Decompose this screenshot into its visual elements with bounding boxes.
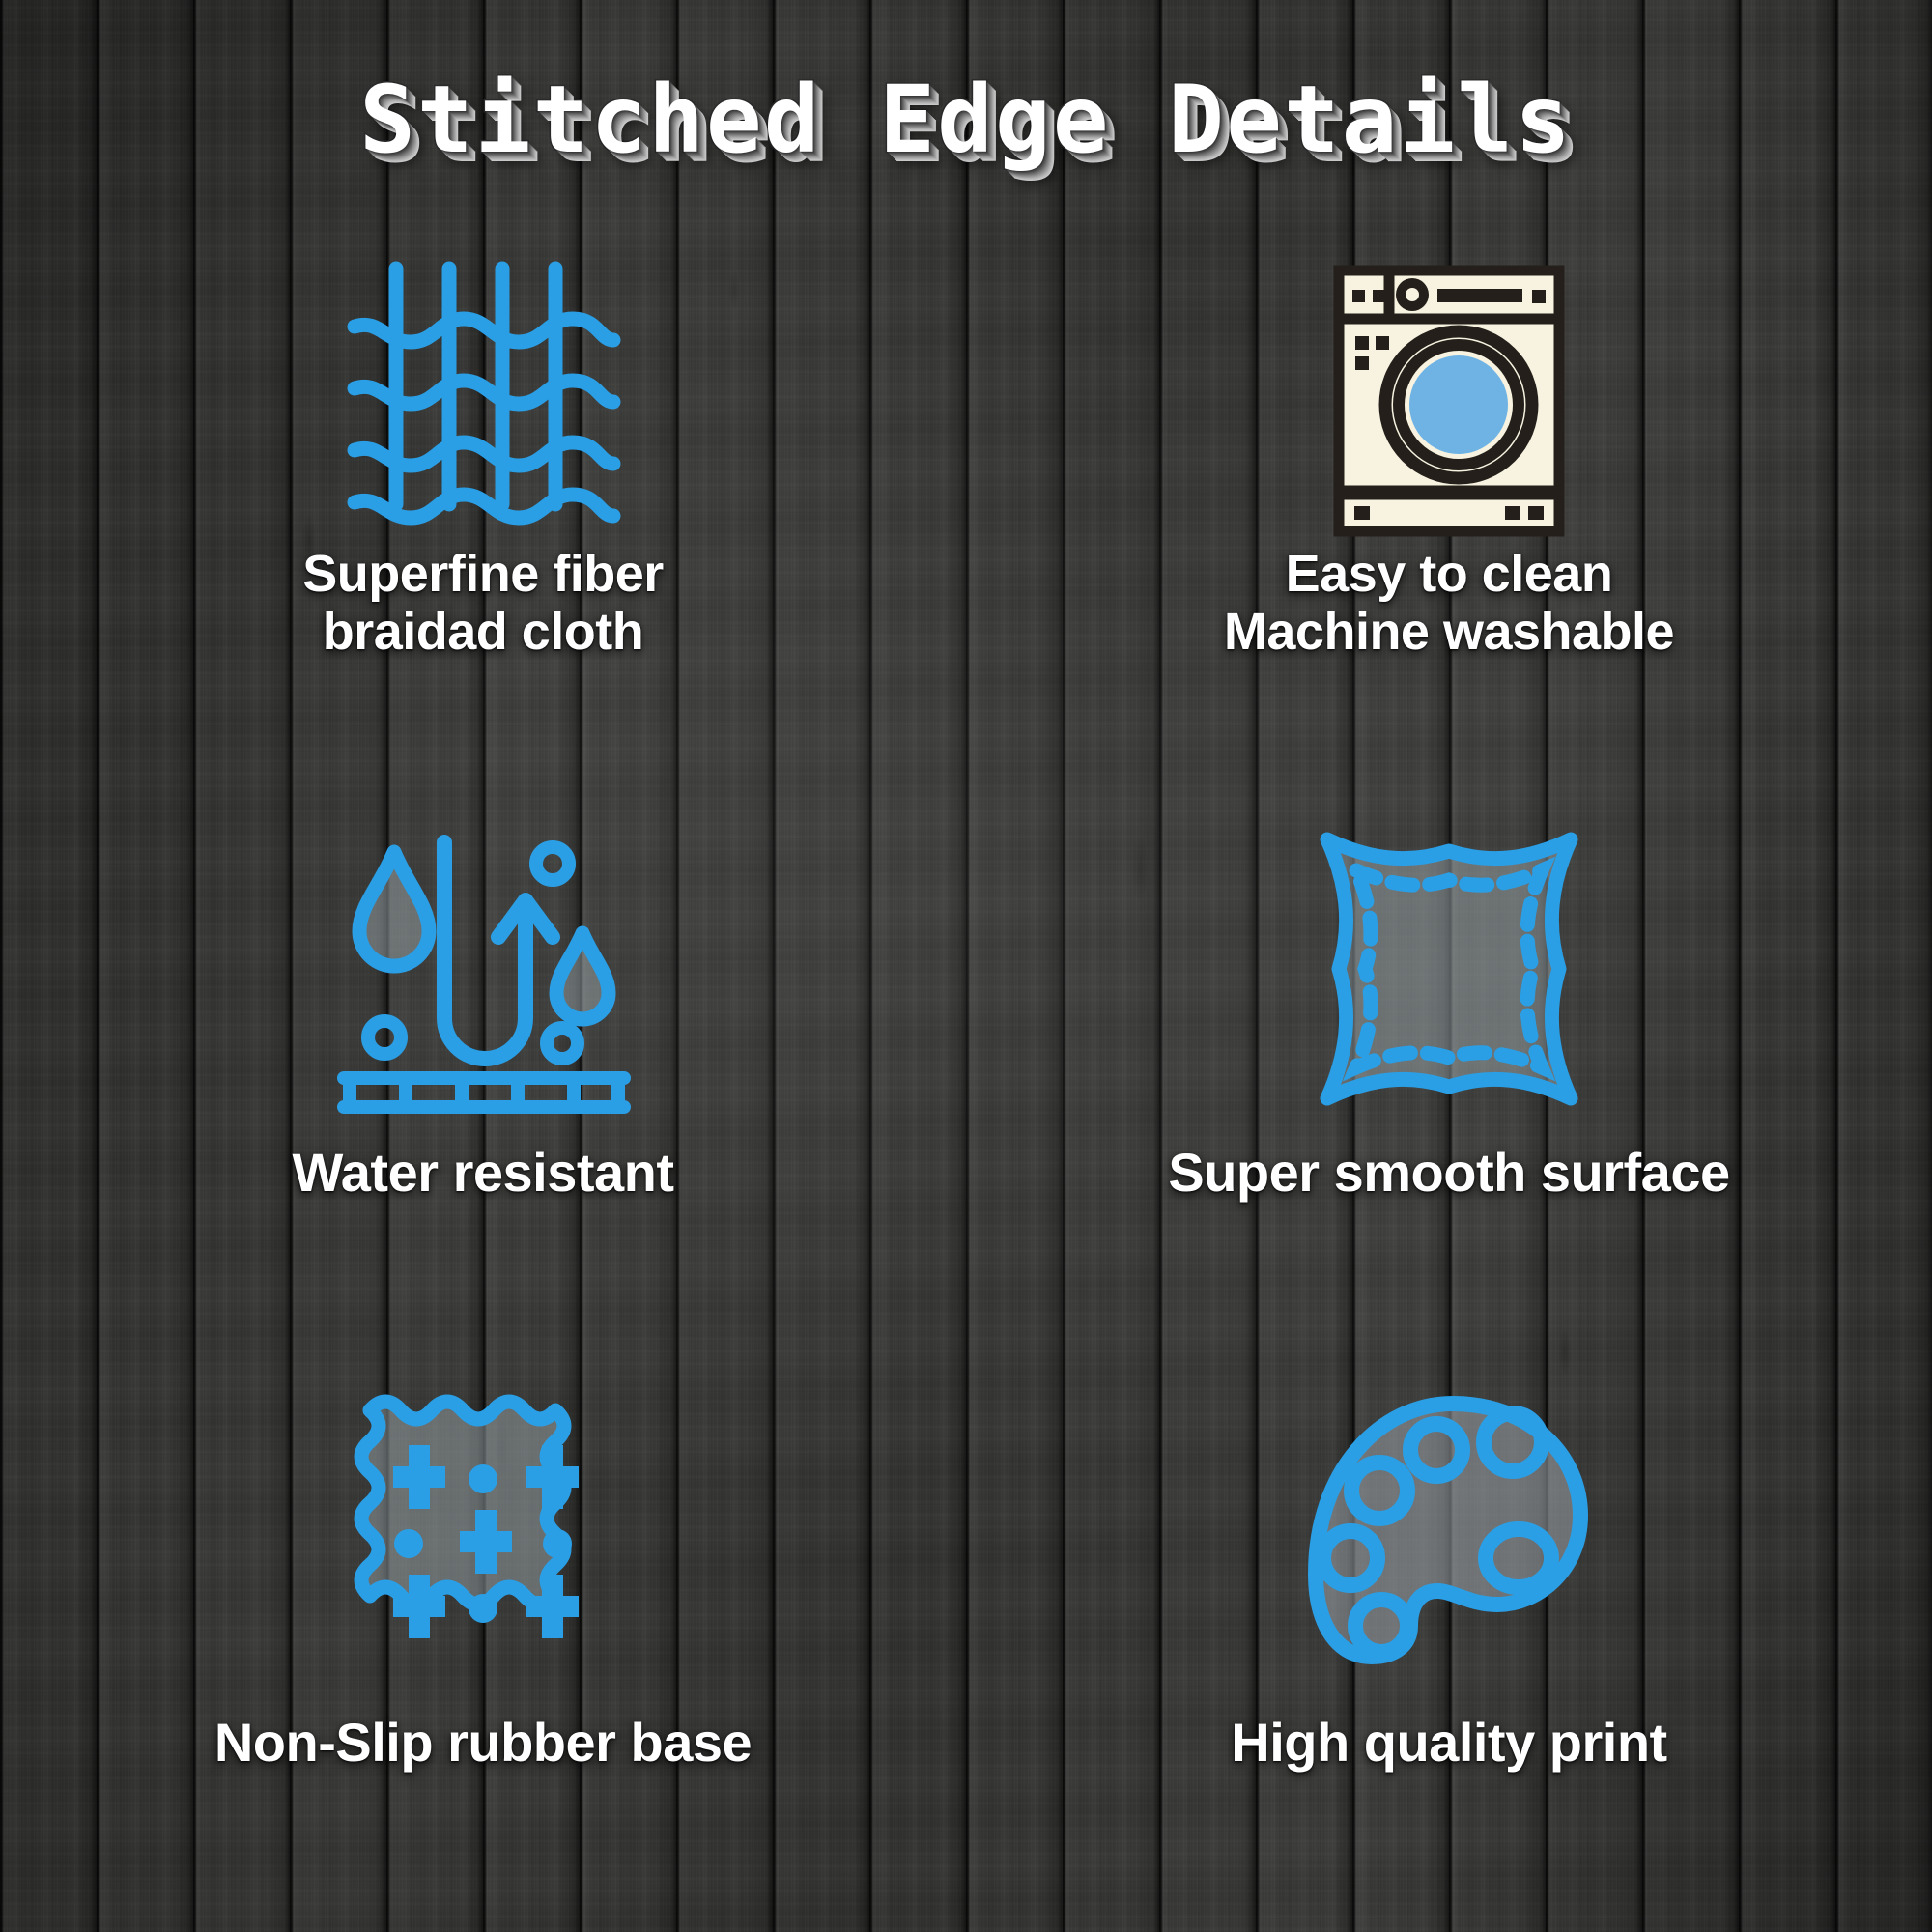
- feature-card-machine-washable: Easy to clean Machine washable: [966, 241, 1932, 802]
- infographic-page: Stitched Edge Details Superfine fi: [0, 0, 1932, 1932]
- feature-card-water-resistant: Water resistant: [0, 802, 966, 1362]
- rubber-mat-icon: [343, 1362, 623, 1695]
- feature-card-smooth-surface: Super smooth surface: [966, 802, 1932, 1362]
- feature-grid: Superfine fiber braidad cloth: [0, 241, 1932, 1922]
- page-title-container: Stitched Edge Details: [0, 71, 1932, 169]
- feature-label: Non-Slip rubber base: [214, 1713, 752, 1774]
- feature-card-high-quality-print: High quality print: [966, 1362, 1932, 1922]
- water-repellent-icon: [338, 802, 628, 1135]
- page-title: Stitched Edge Details: [359, 71, 1573, 169]
- feature-label: Water resistant: [293, 1143, 674, 1204]
- feature-label: High quality print: [1231, 1713, 1666, 1774]
- feature-label: Superfine fiber braidad cloth: [302, 545, 664, 662]
- paint-palette-icon: [1308, 1362, 1590, 1695]
- feature-card-non-slip-base: Non-Slip rubber base: [0, 1362, 966, 1922]
- feature-label: Super smooth surface: [1168, 1143, 1729, 1204]
- leather-hide-stitched-icon: [1306, 802, 1592, 1135]
- woven-fabric-icon: [343, 241, 623, 531]
- washing-machine-icon: [1329, 241, 1569, 531]
- feature-card-superfine-fiber: Superfine fiber braidad cloth: [0, 241, 966, 802]
- feature-label: Easy to clean Machine washable: [1224, 545, 1674, 662]
